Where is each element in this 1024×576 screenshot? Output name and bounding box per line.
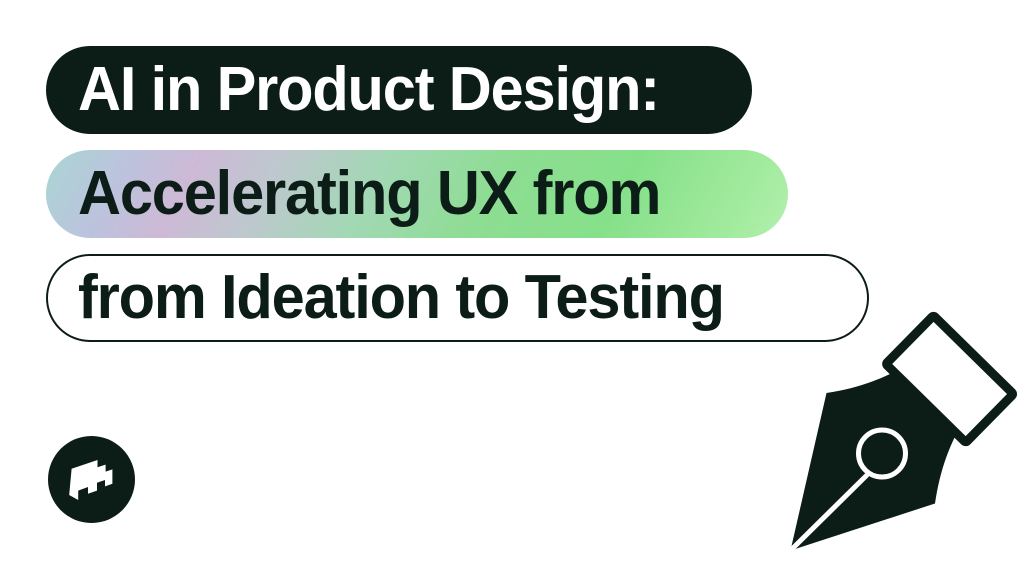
title-line-3-text: from Ideation to Testing	[78, 267, 724, 329]
title-line-2-text: Accelerating UX from	[78, 163, 660, 225]
logo-mark-icon	[66, 457, 118, 503]
title-line-1-text: AI in Product Design:	[78, 59, 659, 121]
title-pill-gradient: Accelerating UX from	[46, 150, 788, 238]
poster-canvas: AI in Product Design: Accelerating UX fr…	[0, 0, 1024, 576]
brand-logo-badge	[48, 436, 135, 523]
title-pill-outlined: from Ideation to Testing	[46, 254, 869, 342]
title-pill-solid: AI in Product Design:	[46, 46, 752, 134]
pen-nib-icon	[770, 305, 1024, 576]
